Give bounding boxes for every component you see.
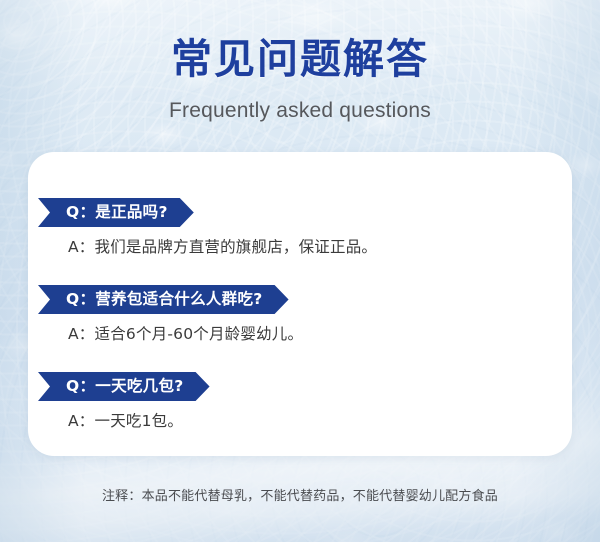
faq-list: Q：是正品吗? A：我们是品牌方直营的旗舰店，保证正品。 Q：营养包适合什么人群…	[28, 198, 572, 459]
faq-answer-text: A：我们是品牌方直营的旗舰店，保证正品。	[68, 236, 572, 258]
footnote-disclaimer: 注释：本品不能代替母乳，不能代替药品，不能代替婴幼儿配方食品	[0, 488, 600, 506]
page-header: 常见问题解答 Frequently asked questions	[0, 0, 600, 124]
faq-answer-text: A：一天吃1包。	[68, 410, 572, 432]
page-title-chinese: 常见问题解答	[0, 0, 600, 84]
faq-question-badge[interactable]: Q：一天吃几包?	[38, 372, 210, 401]
faq-page: 常见问题解答 Frequently asked questions Q：是正品吗…	[0, 0, 600, 542]
faq-question-badge[interactable]: Q：营养包适合什么人群吃?	[38, 285, 289, 314]
page-subtitle-english: Frequently asked questions	[0, 84, 600, 124]
faq-item: Q：一天吃几包? A：一天吃1包。	[28, 372, 572, 459]
faq-question-badge[interactable]: Q：是正品吗?	[38, 198, 194, 227]
faq-answer-text: A：适合6个月-60个月龄婴幼儿。	[68, 323, 572, 345]
faq-item: Q：是正品吗? A：我们是品牌方直营的旗舰店，保证正品。	[28, 198, 572, 285]
faq-card: Q：是正品吗? A：我们是品牌方直营的旗舰店，保证正品。 Q：营养包适合什么人群…	[28, 152, 572, 456]
faq-item: Q：营养包适合什么人群吃? A：适合6个月-60个月龄婴幼儿。	[28, 285, 572, 372]
